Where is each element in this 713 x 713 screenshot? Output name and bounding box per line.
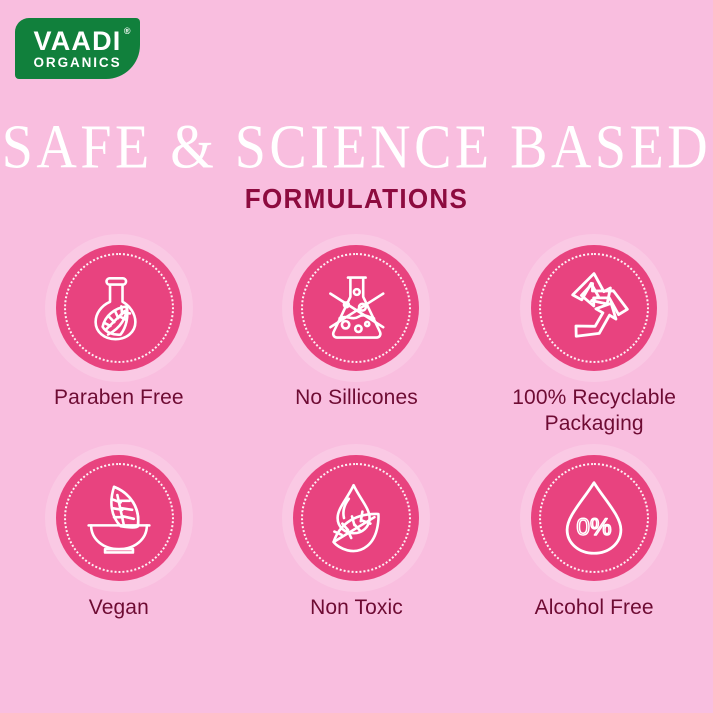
page-title: SAFE & SCIENCE BASED: [0, 116, 713, 179]
feature-label: No Sillicones: [295, 385, 418, 411]
feature-label: Alcohol Free: [535, 595, 654, 621]
brand-name-text: VAADI: [33, 26, 121, 56]
feature-label: Vegan: [89, 595, 149, 621]
feature-label-line1: Vegan: [89, 596, 149, 619]
registered-trademark-icon: ®: [124, 27, 131, 36]
feature-badge: [56, 455, 182, 581]
page-subtitle: FORMULATIONS: [25, 185, 688, 213]
feature-item-vegan: Vegan: [0, 451, 238, 657]
brand-name: VAADI®: [33, 28, 121, 55]
feature-label-line1: Alcohol Free: [535, 596, 654, 619]
feature-label: Non Toxic: [310, 595, 403, 621]
feature-label-line1: Non Toxic: [310, 596, 403, 619]
feature-label: 100% Recyclable Packaging: [512, 385, 676, 436]
feature-item-no-sillicones: No Sillicones: [238, 245, 476, 451]
feature-label: Paraben Free: [54, 385, 184, 411]
flask-crossed-out-icon: [316, 268, 396, 348]
droplet-percentage-text: 0%: [577, 514, 612, 541]
feature-label-line1: Paraben Free: [54, 386, 184, 409]
feature-item-paraben-free: Paraben Free: [0, 245, 238, 451]
feature-label-line2: Packaging: [545, 412, 644, 435]
feature-item-recyclable-packaging: 100% Recyclable Packaging: [475, 245, 713, 451]
feature-grid: Paraben Free: [0, 245, 713, 657]
feature-badge: [293, 455, 419, 581]
feature-badge: [56, 245, 182, 371]
feature-item-alcohol-free: 0% Alcohol Free: [475, 451, 713, 657]
droplet-zero-percent-icon: 0%: [552, 476, 636, 560]
recycle-icon: [553, 267, 635, 349]
brand-tagline: ORGANICS: [34, 56, 122, 70]
feature-badge: [531, 245, 657, 371]
poster-canvas: VAADI® ORGANICS SAFE & SCIENCE BASED FOR…: [0, 0, 713, 713]
bowl-leaf-icon: [78, 477, 160, 559]
feature-label-line1: No Sillicones: [295, 386, 418, 409]
brand-logo: VAADI® ORGANICS: [15, 18, 140, 79]
feature-label-line1: 100% Recyclable: [512, 386, 676, 409]
droplet-leaf-icon: [316, 478, 396, 558]
flask-leaf-icon: [80, 269, 158, 347]
feature-item-non-toxic: Non Toxic: [238, 451, 476, 657]
feature-badge: 0%: [531, 455, 657, 581]
feature-badge: [293, 245, 419, 371]
